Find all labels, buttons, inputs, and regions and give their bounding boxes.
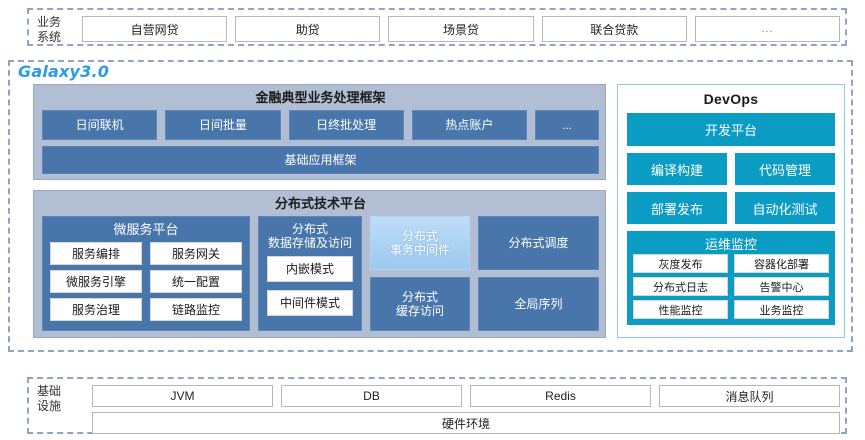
framework-tile-daytime-batch[interactable]: 日间批量 [165,110,280,140]
tile-distributed-cache-access[interactable]: 分布式 缓存访问 [370,277,470,331]
devops-row-build: 编译构建 代码管理 [627,153,835,185]
framework-tile-eod-batch[interactable]: 日终批处理 [289,110,404,140]
devops-ops-monitoring-title: 运维监控 [633,235,829,254]
ops-item-performance-monitor[interactable]: 性能监控 [633,300,728,319]
infrastructure-label-line2: 设施 [37,399,61,414]
devops-content: 开发平台 编译构建 代码管理 部署发布 自动化测试 运维监控 灰度发布 容器化部… [618,107,844,334]
tile-distributed-scheduling[interactable]: 分布式调度 [478,216,599,270]
data-storage-title-line1: 分布式 [268,222,352,236]
tile-distributed-transaction-middleware[interactable]: 分布式 事务中间件 [370,216,470,270]
architecture-diagram: 业务 系统 自营网贷 助贷 场景贷 联合贷款 ... Galaxy3.0 金融典… [0,0,865,440]
business-system-band: 业务 系统 自营网贷 助贷 场景贷 联合贷款 ... [27,8,847,46]
distributed-tech-platform-panel: 分布式技术平台 微服务平台 服务编排 服务网关 微服务引擎 统一配置 服务治理 … [33,190,606,338]
distributed-tech-platform-title: 分布式技术平台 [34,195,607,213]
ops-item-business-monitor[interactable]: 业务监控 [734,300,829,319]
devops-ops-monitoring-items: 灰度发布 容器化部署 分布式日志 告警中心 性能监控 业务监控 [633,254,829,319]
business-item-self-operated-loan[interactable]: 自营网贷 [82,16,227,42]
business-system-label: 业务 系统 [37,15,61,45]
infrastructure-label: 基础 设施 [37,384,61,414]
tile-global-sequence[interactable]: 全局序列 [478,277,599,331]
microservice-item-trace-monitor[interactable]: 链路监控 [150,298,242,321]
devops-item-compile-build[interactable]: 编译构建 [627,153,727,185]
financial-framework-tiles: 日间联机 日间批量 日终批处理 热点账户 ... [42,110,599,140]
business-item-scenario-loan[interactable]: 场景贷 [388,16,533,42]
devops-item-automated-test[interactable]: 自动化测试 [735,192,835,224]
business-item-assist-loan[interactable]: 助贷 [235,16,380,42]
distributed-middleware-column: 分布式 事务中间件 分布式 缓存访问 [370,216,470,331]
business-system-label-line1: 业务 [37,15,61,30]
infrastructure-row-components: JVM DB Redis 消息队列 [92,385,840,407]
microservice-item-unified-config[interactable]: 统一配置 [150,270,242,293]
distributed-scheduling-column: 分布式调度 全局序列 [478,216,599,331]
infra-item-jvm[interactable]: JVM [92,385,273,407]
data-storage-title-line2: 数据存储及访问 [268,236,352,250]
devops-panel: DevOps 开发平台 编译构建 代码管理 部署发布 自动化测试 运维监控 灰度… [617,84,845,338]
galaxy-logo: Galaxy3.0 [18,62,109,81]
infra-item-hardware-environment[interactable]: 硬件环境 [92,412,840,434]
microservice-platform-column: 微服务平台 服务编排 服务网关 微服务引擎 统一配置 服务治理 链路监控 [42,216,250,331]
infra-item-redis[interactable]: Redis [470,385,651,407]
data-storage-items: 内嵌模式 中间件模式 [259,256,361,322]
ops-item-gray-release[interactable]: 灰度发布 [633,254,728,273]
framework-tile-more[interactable]: ... [535,110,599,140]
devops-item-code-management[interactable]: 代码管理 [735,153,835,185]
data-storage-item-middleware-mode[interactable]: 中间件模式 [267,290,353,316]
business-system-label-line2: 系统 [37,30,61,45]
data-storage-column: 分布式 数据存储及访问 内嵌模式 中间件模式 [258,216,362,331]
infra-item-message-queue[interactable]: 消息队列 [659,385,840,407]
infrastructure-band: 基础 设施 JVM DB Redis 消息队列 硬件环境 [27,377,847,434]
devops-item-deploy-release[interactable]: 部署发布 [627,192,727,224]
microservice-item-service-gateway[interactable]: 服务网关 [150,242,242,265]
microservice-platform-items: 服务编排 服务网关 微服务引擎 统一配置 服务治理 链路监控 [43,242,249,327]
devops-ops-monitoring-block: 运维监控 灰度发布 容器化部署 分布式日志 告警中心 性能监控 业务监控 [627,231,835,325]
infrastructure-label-line1: 基础 [37,384,61,399]
business-system-items: 自营网贷 助贷 场景贷 联合贷款 ... [82,16,840,42]
data-storage-title: 分布式 数据存储及访问 [268,222,352,250]
tile-distributed-cache-line2: 缓存访问 [396,304,444,318]
financial-framework-panel: 金融典型业务处理框架 日间联机 日间批量 日终批处理 热点账户 ... 基础应用… [33,84,606,180]
ops-item-container-deploy[interactable]: 容器化部署 [734,254,829,273]
infrastructure-rows: JVM DB Redis 消息队列 硬件环境 [92,385,840,434]
infrastructure-row-hardware: 硬件环境 [92,412,840,434]
devops-row-deploy: 部署发布 自动化测试 [627,192,835,224]
microservice-item-governance[interactable]: 服务治理 [50,298,142,321]
framework-base-application[interactable]: 基础应用框架 [42,146,599,174]
microservice-platform-card[interactable]: 微服务平台 服务编排 服务网关 微服务引擎 统一配置 服务治理 链路监控 [42,216,250,331]
tile-distributed-cache-line1: 分布式 [396,290,444,304]
business-item-joint-loan[interactable]: 联合贷款 [542,16,687,42]
business-item-more[interactable]: ... [695,16,840,42]
ops-item-distributed-log[interactable]: 分布式日志 [633,277,728,296]
ops-item-alert-center[interactable]: 告警中心 [734,277,829,296]
financial-framework-title: 金融典型业务处理框架 [34,89,607,107]
microservice-item-service-orchestration[interactable]: 服务编排 [50,242,142,265]
microservice-platform-title: 微服务平台 [113,223,178,237]
infra-item-db[interactable]: DB [281,385,462,407]
data-storage-item-embedded-mode[interactable]: 内嵌模式 [267,256,353,282]
devops-development-platform[interactable]: 开发平台 [627,113,835,146]
tile-distributed-transaction-line1: 分布式 [390,229,450,243]
distributed-tech-platform-grid: 微服务平台 服务编排 服务网关 微服务引擎 统一配置 服务治理 链路监控 分布式 [42,216,599,331]
framework-tile-daytime-online[interactable]: 日间联机 [42,110,157,140]
devops-title: DevOps [618,91,844,107]
tile-distributed-transaction-line2: 事务中间件 [390,243,450,257]
microservice-item-engine[interactable]: 微服务引擎 [50,270,142,293]
data-storage-card[interactable]: 分布式 数据存储及访问 内嵌模式 中间件模式 [258,216,362,331]
framework-tile-hot-account[interactable]: 热点账户 [412,110,527,140]
